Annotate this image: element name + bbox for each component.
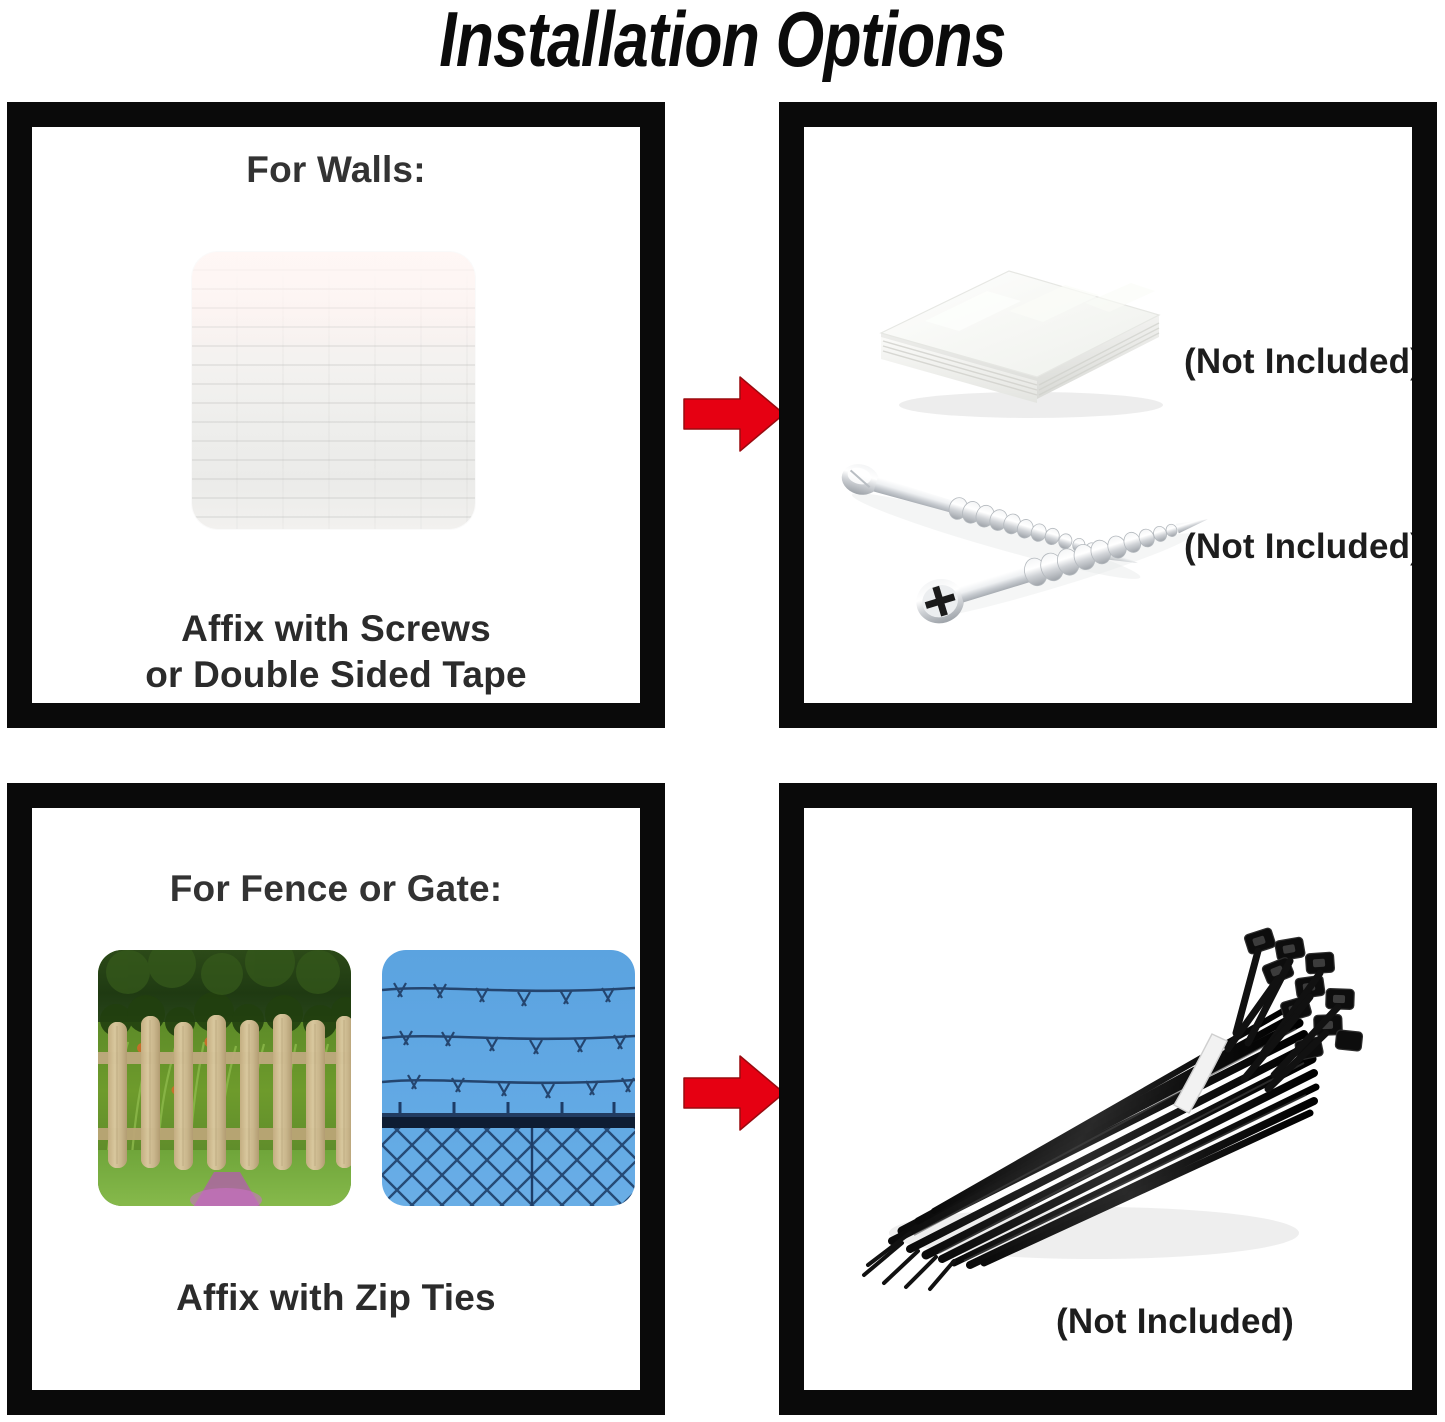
panel-for-walls-caption-line-2: or Double Sided Tape — [32, 651, 640, 698]
arrow-right-icon-walls — [682, 373, 786, 455]
arrow-right-icon-fence — [682, 1052, 786, 1134]
panel-for-fence-heading: For Fence or Gate: — [32, 868, 640, 910]
panel-zip-ties: (Not Included) — [779, 783, 1437, 1415]
panel-for-fence-caption: Affix with Zip Ties — [32, 1274, 640, 1321]
panel-for-walls-heading: For Walls: — [32, 149, 640, 191]
screws-not-included-label: (Not Included) — [1184, 527, 1412, 567]
panel-for-fence-or-gate: For Fence or Gate: — [7, 783, 665, 1415]
zipties-not-included-label: (Not Included) — [1056, 1302, 1294, 1342]
tape-not-included-label: (Not Included) — [1184, 342, 1412, 382]
panel-for-walls-caption-line-1: Affix with Screws — [32, 605, 640, 652]
screws-image — [826, 439, 1226, 629]
black-zip-ties-bundle-image — [844, 903, 1374, 1293]
panel-for-walls: For Walls: Affix with Screws or Double S… — [7, 102, 665, 728]
double-sided-tape-stack-image — [859, 237, 1179, 427]
white-brick-wall-image — [192, 252, 475, 529]
panel-wall-hardware: (Not Included) — [779, 102, 1437, 728]
page-title: Installation Options — [145, 0, 1301, 81]
wooden-picket-fence-image — [98, 950, 351, 1206]
barbed-wire-chain-link-fence-image — [382, 950, 635, 1206]
